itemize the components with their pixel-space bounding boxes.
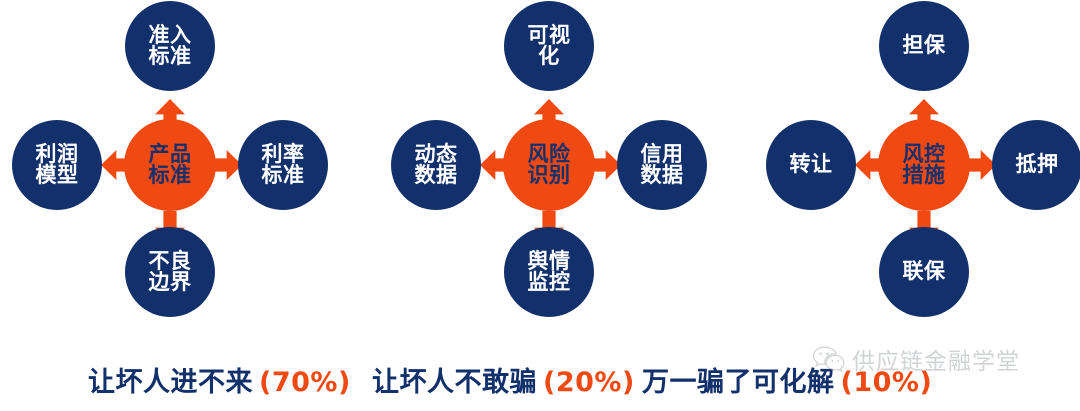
node-label-line: 识别	[528, 165, 571, 186]
caption-percent: (70%)	[259, 367, 351, 398]
node-label-line: 边界	[149, 272, 192, 293]
node-left[interactable]: 动态数据	[391, 120, 481, 210]
node-label-line: 动态	[415, 144, 458, 165]
node-label-line: 舆情	[528, 251, 571, 272]
node-label-line: 利率	[262, 144, 305, 165]
wechat-icon	[812, 345, 846, 373]
node-left[interactable]: 利润模型	[12, 120, 102, 210]
node-label-line: 准入	[149, 25, 192, 46]
cluster-risk-control-measures: 担保 转让 风控措施 抵押 联保	[754, 0, 1080, 340]
node-hub[interactable]: 风险识别	[503, 119, 595, 211]
caption-2: 让坏人不敢骗(20%)	[372, 360, 635, 399]
node-right[interactable]: 利率标准	[238, 120, 328, 210]
node-top[interactable]: 担保	[879, 1, 969, 91]
node-label-line: 数据	[641, 165, 684, 186]
watermark-label: 供应链金融学堂	[852, 342, 1020, 376]
node-top[interactable]: 准入标准	[125, 1, 215, 91]
cluster-risk-identification: 可视化 动态数据 风险识别 信用数据 舆情监控	[379, 0, 719, 340]
caption-text: 万一骗了可化解	[642, 367, 835, 398]
caption-text: 让坏人不敢骗	[372, 367, 537, 398]
node-label-line: 监控	[528, 272, 571, 293]
node-label-line: 利润	[36, 144, 79, 165]
node-label-line: 标准	[149, 165, 192, 186]
node-label-line: 转让	[790, 154, 833, 175]
node-bottom[interactable]: 舆情监控	[504, 227, 594, 317]
node-label-line: 担保	[903, 35, 946, 56]
caption-text: 让坏人进不来	[88, 367, 253, 398]
caption-1: 让坏人进不来(70%)	[88, 360, 351, 399]
node-label-line: 模型	[36, 165, 79, 186]
watermark: 供应链金融学堂	[812, 342, 1020, 376]
cluster-product-standard: 准入标准 利润模型 产品标准 利率标准 不良边界	[0, 0, 340, 340]
node-right[interactable]: 信用数据	[617, 120, 707, 210]
node-label-line: 抵押	[1016, 154, 1059, 175]
caption-percent: (20%)	[543, 367, 635, 398]
node-label-line: 风控	[903, 144, 946, 165]
node-top[interactable]: 可视化	[504, 1, 594, 91]
node-label-line: 标准	[262, 165, 305, 186]
node-label-line: 不良	[149, 251, 192, 272]
node-bottom[interactable]: 联保	[879, 227, 969, 317]
node-bottom[interactable]: 不良边界	[125, 227, 215, 317]
node-label-line: 可视	[528, 25, 571, 46]
node-label-line: 化	[528, 46, 571, 67]
node-label-line: 信用	[641, 144, 684, 165]
node-hub[interactable]: 产品标准	[124, 119, 216, 211]
node-label-line: 标准	[149, 46, 192, 67]
node-label-line: 数据	[415, 165, 458, 186]
diagram-canvas: 准入标准 利润模型 产品标准 利率标准 不良边界 可视化 动态数据 风险识别 信…	[0, 0, 1080, 411]
node-hub[interactable]: 风控措施	[878, 119, 970, 211]
node-label-line: 措施	[903, 165, 946, 186]
node-label-line: 风险	[528, 144, 571, 165]
node-label-line: 联保	[903, 261, 946, 282]
node-left[interactable]: 转让	[766, 120, 856, 210]
node-right[interactable]: 抵押	[992, 120, 1080, 210]
node-label-line: 产品	[149, 144, 192, 165]
